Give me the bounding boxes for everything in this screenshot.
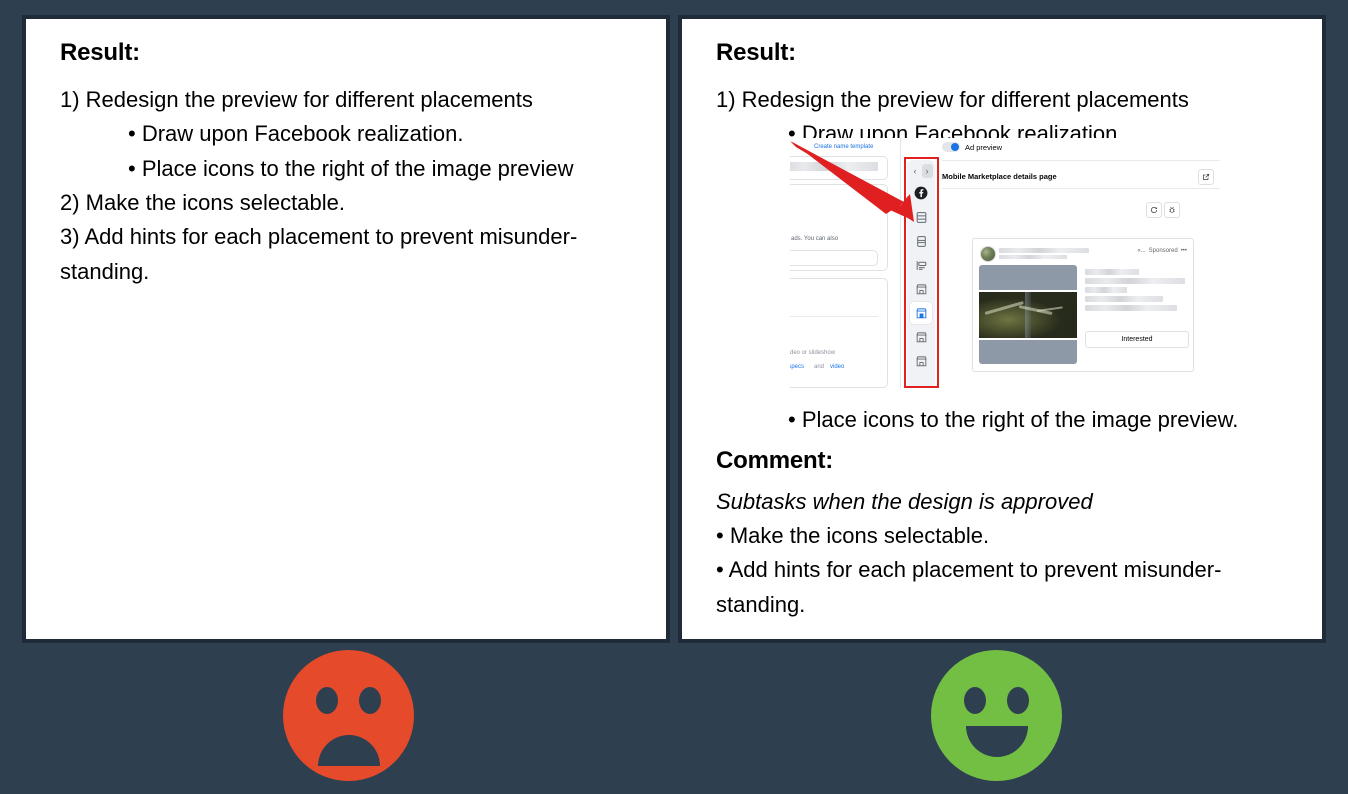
ad-preview-toggle-row[interactable]: Ad preview — [942, 142, 1002, 152]
advertiser-avatar — [980, 246, 996, 262]
image-bottom-placeholder — [979, 340, 1077, 364]
specs-and-word: and — [814, 364, 824, 370]
debug-bug-icon[interactable] — [1164, 202, 1180, 218]
pane-divider-bottom — [942, 188, 1220, 189]
slide-root: Result: 1) Redesign the preview for diff… — [0, 0, 1348, 794]
right-comment-italic: Subtasks when the design is approved — [716, 485, 1288, 519]
happy-face-eye-left — [964, 687, 986, 714]
ad-preview-pane: Ad preview Mobile Marketplace details pa… — [942, 138, 1222, 388]
ad-text-line-1 — [1085, 269, 1139, 275]
red-arrow-annotation — [786, 138, 926, 228]
right-comment-heading: Comment: — [716, 447, 1288, 475]
image-specs-link[interactable]: ge specs — [790, 364, 804, 370]
ad-text-line-4 — [1085, 296, 1163, 302]
sad-face-eye-right — [359, 687, 381, 714]
image-top-placeholder — [979, 265, 1077, 290]
advertiser-name-blurred — [999, 248, 1089, 253]
right-comment-line-3: standing. — [716, 588, 1288, 622]
ad-text-column — [1085, 269, 1187, 311]
right-line-1: 1) Redesign the preview for different pl… — [716, 83, 1288, 117]
video-or-slideshow-hint: r video or slideshow — [790, 350, 835, 356]
left-panel-bad-example: Result: 1) Redesign the preview for diff… — [22, 15, 670, 643]
sponsored-text: Sponsored — [1149, 248, 1178, 254]
ad-preview-toggle-label: Ad preview — [965, 143, 1002, 152]
ad-photo — [979, 292, 1077, 338]
pane-divider-top — [942, 160, 1220, 161]
left-line-4: 2) Make the icons selectable. — [60, 186, 632, 220]
right-comment-line-2: • Add hints for each placement to preven… — [716, 553, 1288, 587]
toggle-knob — [951, 143, 959, 151]
placement-title: Mobile Marketplace details page — [942, 172, 1057, 181]
left-panel-content: Result: 1) Redesign the preview for diff… — [26, 19, 666, 289]
ad-text-line-5 — [1085, 305, 1177, 311]
text-in-ads-hint: s in ads. You can also — [790, 236, 838, 242]
ad-text-line-2 — [1085, 278, 1185, 284]
left-line-1: 1) Redesign the preview for different pl… — [60, 83, 632, 117]
left-line-5: 3) Add hints for each placement to preve… — [60, 220, 632, 254]
left-result-body: 1) Redesign the preview for different pl… — [60, 83, 632, 289]
marketplace-details-placement-icon[interactable] — [910, 302, 932, 324]
media-card-divider — [790, 316, 878, 317]
instream-placement-icon[interactable] — [910, 254, 932, 276]
more-options-icon[interactable]: ••• — [1181, 248, 1187, 254]
right-line-3: • Place icons to the right of the image … — [716, 403, 1288, 437]
left-result-heading: Result: — [60, 39, 632, 67]
happy-face-eye-right — [1007, 687, 1029, 714]
ad-preview-card: «... Sponsored ••• — [972, 238, 1194, 372]
ad-image-column — [979, 265, 1077, 364]
right-result-heading: Result: — [716, 39, 1288, 67]
media-card — [790, 278, 888, 388]
ad-text-line-3 — [1085, 287, 1127, 293]
sad-face-mouth — [318, 735, 380, 766]
marketplace-placement-icon-3[interactable] — [910, 350, 932, 372]
photo-stem — [1025, 292, 1031, 338]
sad-face — [283, 650, 414, 781]
advertiser-subtext-blurred — [999, 255, 1067, 259]
text-input-box[interactable] — [790, 250, 878, 266]
left-line-6: standing. — [60, 255, 632, 289]
ad-preview-toggle[interactable] — [942, 142, 960, 152]
happy-face — [931, 650, 1062, 781]
open-external-icon[interactable] — [1198, 169, 1214, 185]
refresh-icon[interactable] — [1146, 202, 1162, 218]
sponsored-ellipsis: «... — [1137, 248, 1145, 254]
right-comment-line-1: • Make the icons selectable. — [716, 519, 1288, 553]
marketplace-placement-icon[interactable] — [910, 278, 932, 300]
left-line-2: • Draw upon Facebook realization. — [60, 117, 632, 151]
feed-placement-icon-2[interactable] — [910, 230, 932, 252]
interested-button[interactable]: Interested — [1085, 331, 1189, 348]
sad-face-eye-left — [316, 687, 338, 714]
sponsored-label-group: «... Sponsored ••• — [1137, 248, 1187, 254]
left-line-3: • Place icons to the right of the image … — [60, 152, 632, 186]
video-specs-link[interactable]: video — [830, 364, 844, 370]
photo-leaf-1 — [985, 301, 1024, 315]
happy-face-mouth — [966, 726, 1028, 757]
marketplace-placement-icon-2[interactable] — [910, 326, 932, 348]
